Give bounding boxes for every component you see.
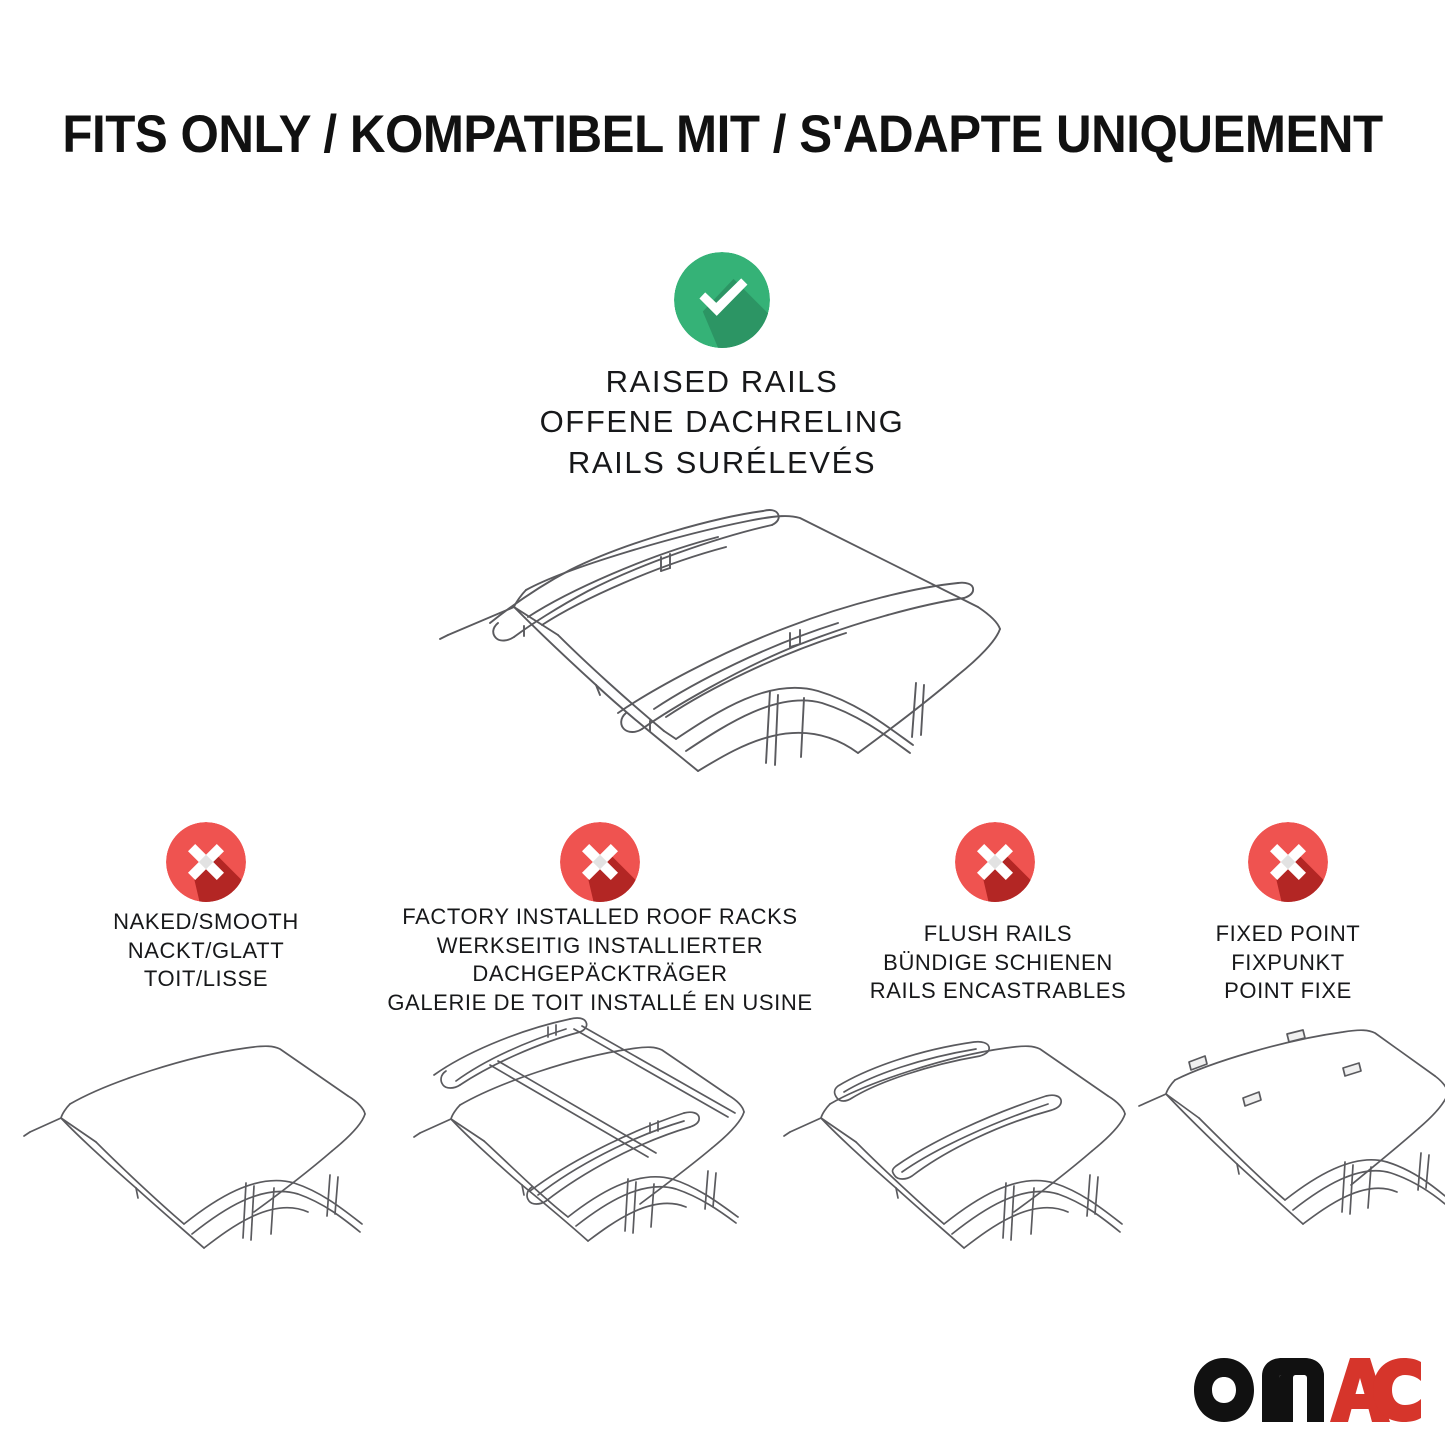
- cross-circle-icon: [560, 822, 640, 902]
- car-roof-naked-smooth-illustration: [18, 1020, 388, 1255]
- incompatible-labels-1: NAKED/SMOOTH NACKT/GLATT TOIT/LISSE: [36, 908, 376, 994]
- cross-circle-icon: [166, 822, 246, 902]
- cross-circle-icon: [1248, 822, 1328, 902]
- incompatible-labels-2: FACTORY INSTALLED ROOF RACKS WERKSEITIG …: [370, 903, 830, 1017]
- cross-circle-icon: [955, 822, 1035, 902]
- omac-logo: [1190, 1352, 1425, 1428]
- page-title: FITS ONLY / KOMPATIBEL MIT / S'ADAPTE UN…: [51, 104, 1395, 165]
- compatible-labels: RAISED RAILS OFFENE DACHRELING RAILS SUR…: [372, 362, 1072, 483]
- car-roof-raised-rails-illustration: [418, 495, 1028, 795]
- car-roof-fixed-point-illustration: [1135, 1020, 1445, 1255]
- incompatible-labels-4: FIXED POINT FIXPUNKT POINT FIXE: [1128, 920, 1445, 1006]
- check-circle-icon: [674, 252, 770, 348]
- incompatible-labels-3: FLUSH RAILS BÜNDIGE SCHIENEN RAILS ENCAS…: [828, 920, 1168, 1006]
- infographic-page: FITS ONLY / KOMPATIBEL MIT / S'ADAPTE UN…: [0, 0, 1445, 1445]
- car-roof-flush-rails-illustration: [778, 1020, 1148, 1255]
- car-roof-factory-racks-illustration: [398, 1005, 768, 1255]
